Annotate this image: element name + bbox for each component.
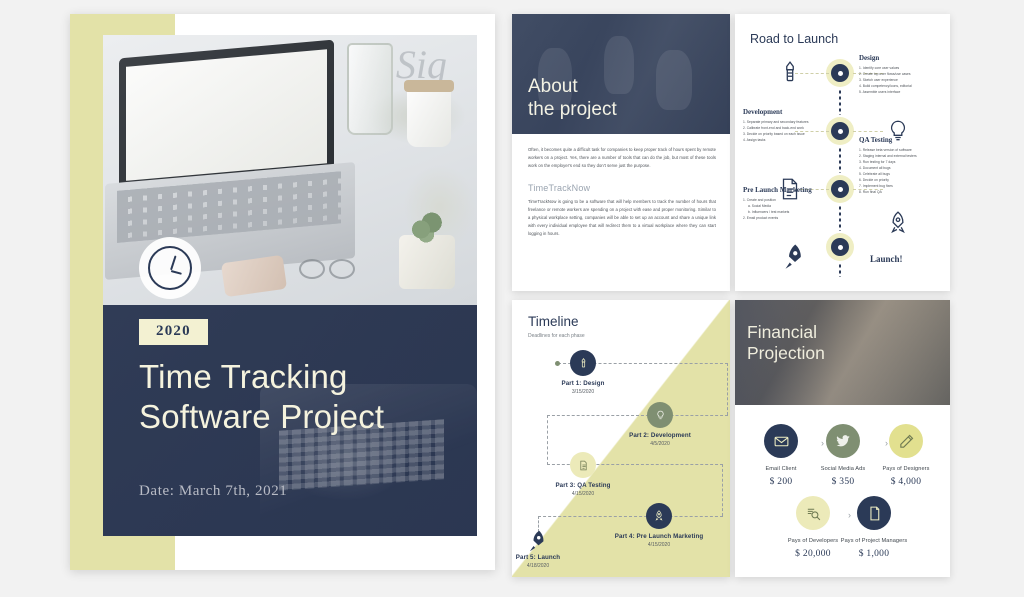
timeline-step-date: 4/15/2020	[535, 491, 631, 497]
cover-title-line2: Software Project	[139, 397, 469, 437]
financial-item-value: $ 4,000	[870, 477, 942, 487]
timeline-path-7	[538, 516, 723, 517]
timeline-node-4	[646, 503, 672, 529]
about-heading-line1: About	[528, 75, 617, 99]
financial-item-value: $ 1,000	[838, 549, 910, 559]
cover-title-line1: Time Tracking	[139, 357, 469, 397]
road-dots-4	[839, 263, 842, 277]
timeline-path-3	[547, 415, 728, 416]
rocket-icon	[652, 509, 666, 523]
financial-projection-card: Financial Projection Email Client $ 200 …	[735, 300, 950, 577]
road-to-launch-card: Road to Launch	[735, 14, 950, 291]
timeline-card: Timeline Deadlines for each phase Part 1…	[512, 300, 730, 577]
year-badge: 2020	[139, 319, 208, 345]
road-section-title: Design	[859, 54, 943, 62]
document-icon	[857, 496, 891, 530]
glass-jar-shape	[347, 43, 393, 135]
road-connector-right-2	[853, 131, 883, 132]
coffee-cup-shape	[407, 87, 451, 147]
lightbulb-icon	[654, 409, 667, 422]
road-section-design: Design 1. Identify core user values 2. C…	[859, 54, 943, 95]
about-heading-line2: the project	[528, 98, 617, 122]
road-section-list: 1. Create and position a. Social Media b…	[743, 197, 835, 221]
about-paragraph-2: TimeTrackNow is going to be a software t…	[528, 198, 716, 239]
document-icon	[577, 459, 590, 472]
road-node-4	[826, 233, 854, 261]
financial-item-label: Pays of Designers	[870, 465, 942, 473]
financial-item-label: Social Media Ads	[807, 465, 879, 473]
search-code-icon	[796, 496, 830, 530]
launch-label: Launch!	[870, 254, 903, 264]
timeline-step-label: Part 1: Design	[535, 380, 631, 387]
timeline-label-2: Part 2: Development 4/5/2020	[612, 432, 708, 447]
cover-inner-frame: Sig 2020 Time Tracking Software Project	[103, 35, 477, 536]
road-section-development: Development 1. Separate primary and seco…	[743, 108, 827, 143]
road-rail	[839, 59, 841, 274]
timeline-label-5: Part 5: Launch 4/18/2020	[512, 554, 586, 569]
timeline-label-4: Part 4: Pre Launch Marketing 4/15/2020	[611, 533, 707, 548]
road-title: Road to Launch	[750, 32, 838, 46]
rocket-icon	[885, 210, 911, 236]
timeline-step-label: Part 5: Launch	[512, 554, 586, 561]
road-dots-1	[839, 89, 842, 115]
clock-face	[148, 246, 192, 290]
slide-deck-canvas: Sig 2020 Time Tracking Software Project	[0, 0, 1024, 597]
timeline-step-label: Part 3: QA Testing	[535, 482, 631, 489]
clock-icon	[139, 237, 201, 299]
timeline-label-1: Part 1: Design 3/15/2020	[535, 380, 631, 395]
eyeglasses-shape	[299, 259, 355, 277]
road-section-qa-testing: QA Testing 1. Release beta version of so…	[859, 136, 943, 195]
road-dots-3	[839, 205, 842, 231]
road-list-item: 5. Assemble users interface	[859, 89, 943, 95]
financial-item-value: $ 350	[807, 477, 879, 487]
timeline-node-1	[570, 350, 596, 376]
timeline-step-date: 4/5/2020	[612, 441, 708, 447]
road-section-list: 1. Release beta version of software 2. S…	[859, 147, 943, 196]
timeline-step-date: 3/15/2020	[535, 389, 631, 395]
road-list-item: 4. Assign tasks	[743, 137, 827, 143]
financial-item-social-media-ads: Social Media Ads $ 350	[807, 424, 879, 487]
road-section-title: Pre Launch Marketing	[743, 186, 835, 194]
timeline-subtitle: Deadlines for each phase	[528, 333, 585, 339]
timeline-label-3: Part 3: QA Testing 4/15/2020	[535, 482, 631, 497]
rocket-launch-icon	[524, 528, 550, 554]
road-list-item: 8. Run final QA	[859, 189, 943, 195]
financial-item-label: Pays of Project Managers	[838, 537, 910, 545]
page-title: Time Tracking Software Project	[139, 357, 469, 438]
financial-item-pays-of-designers: Pays of Designers $ 4,000	[870, 424, 942, 487]
road-section-pre-launch-marketing: Pre Launch Marketing 1. Create and posit…	[743, 186, 835, 221]
timeline-step-date: 4/18/2020	[512, 563, 586, 569]
timeline-step-label: Part 4: Pre Launch Marketing	[611, 533, 707, 540]
about-project-card: About the project Often, it becomes quit…	[512, 14, 730, 291]
financial-item-pays-of-project-managers: Pays of Project Managers $ 1,000	[838, 496, 910, 559]
rocket-launch-icon	[779, 242, 809, 272]
financial-heading-line2: Projection	[747, 343, 825, 364]
timeline-title: Timeline	[528, 314, 579, 329]
about-heading: About the project	[528, 75, 617, 123]
road-section-title: Development	[743, 108, 827, 116]
timeline-node-3	[570, 452, 596, 478]
road-node-2	[826, 117, 854, 145]
bird-icon	[826, 424, 860, 458]
timeline-step-date: 4/15/2020	[611, 542, 707, 548]
road-node-1	[826, 59, 854, 87]
financial-heading: Financial Projection	[747, 322, 825, 365]
financial-heading-line1: Financial	[747, 322, 825, 343]
about-meeting-photo: About the project	[512, 14, 730, 134]
timeline-path-6	[722, 464, 723, 516]
road-list-item: 2. Email product events	[743, 215, 835, 221]
financial-office-photo: Financial Projection	[735, 300, 950, 405]
cover-date: Date: March 7th, 2021	[139, 483, 287, 500]
timeline-step-label: Part 2: Development	[612, 432, 708, 439]
cover-page-card: Sig 2020 Time Tracking Software Project	[70, 14, 495, 570]
timeline-path-4	[547, 415, 548, 465]
road-section-list: 1. Separate primary and secondary featur…	[743, 119, 827, 143]
phone-shape	[221, 255, 287, 297]
envelope-icon	[764, 424, 798, 458]
road-section-list: 1. Identify core user values 2. Create t…	[859, 65, 943, 95]
pen-icon	[577, 357, 590, 370]
person-silhouette	[656, 50, 692, 110]
about-subheading: TimeTrackNow	[528, 183, 716, 193]
timeline-start-dot	[555, 361, 560, 366]
road-dots-2	[839, 147, 842, 173]
pencil-icon	[889, 424, 923, 458]
succulent-plant-shape	[399, 235, 455, 289]
cover-title-block: 2020 Time Tracking Software Project Date…	[103, 305, 477, 536]
pen-icon	[777, 60, 803, 86]
timeline-node-2	[647, 402, 673, 428]
about-paragraph-1: Often, it becomes quite a difficult task…	[528, 146, 716, 171]
road-section-title: QA Testing	[859, 136, 943, 144]
about-body: Often, it becomes quite a difficult task…	[528, 146, 716, 251]
timeline-path-2	[727, 363, 728, 415]
